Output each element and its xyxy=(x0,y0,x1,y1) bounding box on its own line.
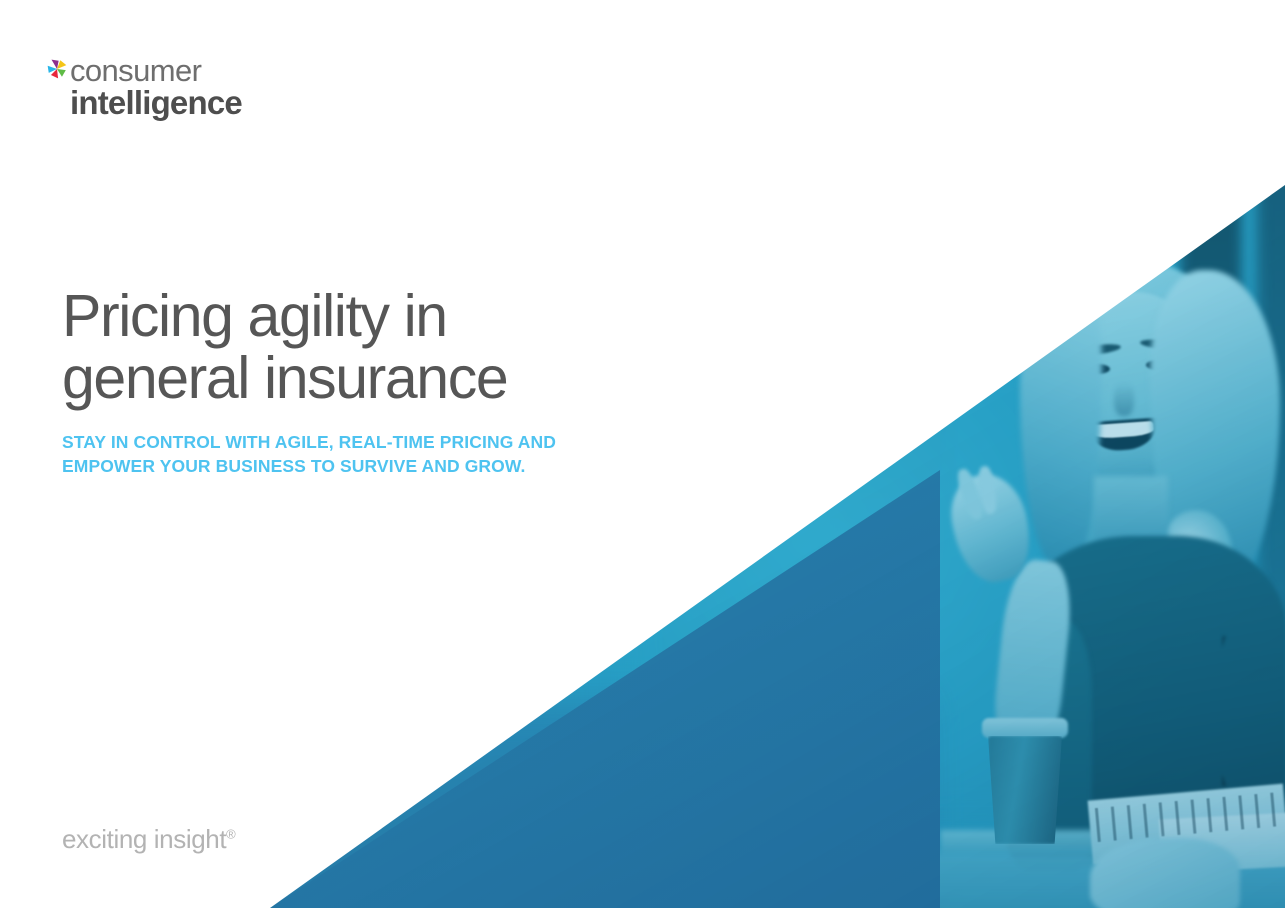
page-title: Pricing agility in general insurance xyxy=(62,286,622,410)
page-subtitle: STAY IN CONTROL WITH AGILE, REAL-TIME PR… xyxy=(62,430,622,478)
report-cover-page: consumer intelligence Pricing agility in… xyxy=(0,0,1285,908)
registered-trademark-icon: ® xyxy=(226,826,235,841)
brand-logo[interactable]: consumer intelligence xyxy=(46,56,242,118)
logo-word-intelligence: intelligence xyxy=(70,87,242,119)
subtitle-line-2: EMPOWER YOUR BUSINESS TO SURVIVE AND GRO… xyxy=(62,454,622,478)
strapline-text: exciting insight xyxy=(62,824,226,854)
title-line-2: general insurance xyxy=(62,348,622,410)
logo-word-consumer: consumer xyxy=(70,56,242,86)
title-line-1: Pricing agility in xyxy=(62,286,622,348)
brand-strapline: exciting insight® xyxy=(62,824,235,855)
subtitle-line-1: STAY IN CONTROL WITH AGILE, REAL-TIME PR… xyxy=(62,430,622,454)
pinwheel-logo-icon xyxy=(46,58,68,80)
